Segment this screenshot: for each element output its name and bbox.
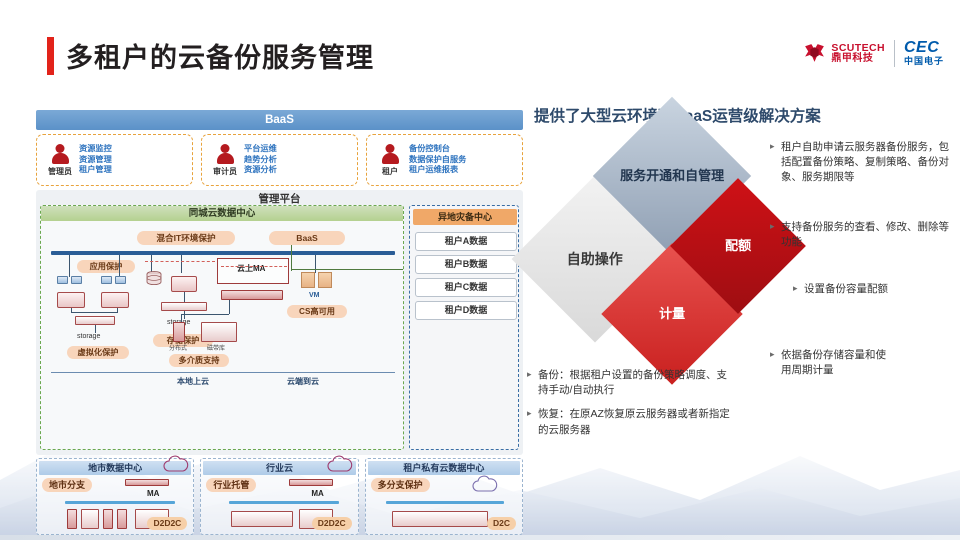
bullet-group-provisioning: 租户自助申请云服务器备份服务，包括配置备份策略、复制策略、备份对象、服务期限等	[770, 140, 958, 195]
diamond-label: 计量	[659, 306, 685, 322]
role-features-auditor: 平台运维 趋势分析 资源分析	[244, 144, 353, 176]
branch-network-bar	[386, 501, 504, 504]
branch-panels: 地市数据中心 地市分支 MA D2D2C 行业云	[36, 458, 523, 535]
role-feature: 平台运维	[244, 144, 353, 155]
cec-en-label: CEC	[904, 40, 944, 57]
branch-pill: 行业托管	[206, 478, 256, 492]
bullet-group-quota: 设置备份容量配额	[793, 282, 953, 306]
cec-logo: CEC 中国电子	[904, 40, 944, 66]
role-features-admin: 资源监控 资源管理 租户管理	[79, 144, 188, 176]
role-name-tenant: 租户	[371, 166, 409, 177]
label-cs-ha: CS高可用	[287, 305, 347, 318]
role-name-auditor: 审计员	[206, 166, 244, 177]
cloud-icon	[161, 453, 191, 475]
role-feature: 租户运维报表	[409, 165, 518, 176]
role-card-admin: 管理员 资源监控 资源管理 租户管理	[36, 134, 193, 186]
host-node	[101, 292, 129, 308]
network-backbone	[51, 251, 395, 255]
dr-item-tenant-d: 租户D数据	[415, 301, 517, 320]
role-feature: 资源管理	[79, 155, 188, 166]
server-node	[101, 276, 112, 284]
label-vm: VM	[309, 292, 320, 299]
role-feature: 租户管理	[79, 165, 188, 176]
role-cards: 管理员 资源监控 资源管理 租户管理 审计员 平台运维 趋势分析 资源分析	[36, 134, 523, 186]
pill-baas: BaaS	[269, 231, 345, 245]
label-storage-1: storage	[77, 333, 100, 340]
bullet-item: 设置备份容量配额	[793, 282, 953, 297]
host-node	[171, 276, 197, 292]
branch-pill: 地市分支	[42, 478, 92, 492]
branch-rack	[231, 511, 293, 527]
role-feature: 趋势分析	[244, 155, 353, 166]
bottom-accent-bar	[0, 535, 960, 540]
dr-item-tenant-c: 租户C数据	[415, 278, 517, 297]
branch-panel-city: 地市数据中心 地市分支 MA D2D2C	[36, 458, 194, 535]
branch-tag: D2D2C	[312, 517, 352, 530]
diamond-label: 自助操作	[567, 251, 623, 268]
bullet-group-manage: 支持备份服务的查看、修改、删除等功能	[770, 220, 958, 259]
same-city-datacenter-title: 同城云数据中心	[41, 206, 403, 221]
bullet-group-metering: 依据备份存储容量和使用周期计量	[770, 348, 890, 387]
branch-device	[81, 509, 99, 529]
server-node	[115, 276, 126, 284]
architecture-diagram: BaaS 管理员 资源监控 资源管理 租户管理 审计员	[36, 110, 523, 455]
scutech-logo: SCUTECH 鼎甲科技	[802, 41, 885, 66]
role-name-admin: 管理员	[41, 166, 79, 177]
scutech-mark-icon	[802, 41, 827, 66]
label-cloud-ma: 云上MA	[237, 263, 265, 274]
logo-divider	[894, 40, 895, 67]
branch-device	[117, 509, 127, 529]
dr-item-tenant-b: 租户B数据	[415, 255, 517, 274]
role-feature: 备份控制台	[409, 144, 518, 155]
dr-center-title: 异地灾备中心	[413, 209, 517, 225]
tape-library	[201, 322, 237, 342]
server-node	[57, 276, 68, 284]
bullet-item: 租户自助申请云服务器备份服务，包括配置备份策略、复制策略、备份对象、服务期限等	[770, 140, 958, 186]
role-feature: 资源分析	[244, 165, 353, 176]
branch-panel-private-cloud: 租户私有云数据中心 多分支保护 D2C	[365, 458, 523, 535]
label-virt-protect: 虚拟化保护	[67, 346, 129, 359]
label-local-to-cloud: 本地上云	[177, 376, 209, 387]
dr-center: 异地灾备中心 租户A数据 租户B数据 租户C数据 租户D数据	[409, 205, 519, 450]
branch-device	[103, 509, 113, 529]
slide-header: 多租户的云备份服务管理 SCUTECH 鼎甲科技 CEC 中国电子	[0, 0, 960, 96]
branch-device	[67, 509, 77, 529]
baas-header-bar: BaaS	[36, 110, 523, 130]
diamond-label: 配额	[725, 238, 751, 254]
role-card-auditor: 审计员 平台运维 趋势分析 资源分析	[201, 134, 358, 186]
vm-node	[301, 272, 315, 288]
branch-network-bar	[65, 501, 175, 504]
label-app-protect: 应用保护	[77, 260, 135, 273]
branch-ma-label: MA	[147, 489, 159, 498]
bullet-item: 依据备份存储容量和使用周期计量	[770, 348, 890, 378]
branch-network-bar	[229, 501, 339, 504]
server-node	[71, 276, 82, 284]
bullet-item: 支持备份服务的查看、修改、删除等功能	[770, 220, 958, 250]
right-panel: 提供了大型云环境下BaaS运营级解决方案 自助操作 服务开通和自管理 计量 配额…	[530, 100, 960, 460]
host-node	[57, 292, 85, 308]
branch-tag: D2C	[487, 517, 516, 530]
bullet-item: 备份：根据租户设置的备份策略调度、支持手动/自动执行	[527, 368, 737, 398]
cec-cn-label: 中国电子	[904, 57, 944, 66]
bullet-group-operations: 备份：根据租户设置的备份策略调度、支持手动/自动执行 恢复：在原AZ恢复原云服务…	[527, 368, 737, 447]
branch-ma-label: MA	[311, 489, 323, 498]
label-cloud-to-cloud: 云端到云	[287, 376, 319, 387]
scutech-cn-label: 鼎甲科技	[831, 54, 885, 64]
branch-rack	[392, 511, 488, 527]
label-multi-media: 多介质支持	[169, 354, 229, 367]
slide-root: 多租户的云备份服务管理 SCUTECH 鼎甲科技 CEC 中国电子 BaaS	[0, 0, 960, 540]
role-card-tenant: 租户 备份控制台 数据保护自服务 租户运维报表	[366, 134, 523, 186]
ma-appliance	[125, 479, 169, 486]
management-platform-title: 管理平台	[36, 191, 523, 206]
role-feature: 资源监控	[79, 144, 188, 155]
storage-array	[75, 316, 115, 325]
role-feature: 数据保护自服务	[409, 155, 518, 166]
storage-array	[161, 302, 207, 311]
scutech-text: SCUTECH 鼎甲科技	[831, 43, 885, 64]
title-accent-bar	[47, 37, 54, 75]
diamond-cluster: 自助操作 服务开通和自管理 计量 配额	[530, 136, 790, 386]
cloud-icon	[470, 473, 502, 495]
bullet-item: 恢复：在原AZ恢复原云服务器或者新指定的云服务器	[527, 407, 737, 437]
logo-group: SCUTECH 鼎甲科技 CEC 中国电子	[802, 40, 944, 67]
dr-item-tenant-a: 租户A数据	[415, 232, 517, 251]
cloud-icon	[325, 453, 355, 475]
label-tape: 磁带库	[207, 343, 225, 352]
branch-panel-industry: 行业云 行业托管 MA D2D2C	[200, 458, 358, 535]
admin-avatar: 管理员	[41, 144, 79, 177]
distributed-node	[173, 322, 185, 342]
ma-appliance	[289, 479, 333, 486]
management-platform: 管理平台 同城云数据中心 混合IT环境保护 BaaS 应用保护	[36, 190, 523, 455]
label-distributed: 分布式	[169, 343, 187, 352]
role-features-tenant: 备份控制台 数据保护自服务 租户运维报表	[409, 144, 518, 176]
ma-appliance	[221, 290, 283, 300]
page-title: 多租户的云备份服务管理	[66, 36, 374, 75]
database-icon	[145, 270, 163, 288]
diamond-label: 服务开通和自管理	[620, 168, 724, 184]
branch-tag: D2D2C	[147, 517, 187, 530]
vm-node	[318, 272, 332, 288]
auditor-avatar: 审计员	[206, 144, 244, 177]
same-city-datacenter: 同城云数据中心 混合IT环境保护 BaaS 应用保护 sto	[40, 205, 404, 450]
pill-hybrid-it: 混合IT环境保护	[137, 231, 235, 245]
tenant-avatar: 租户	[371, 144, 409, 177]
branch-pill: 多分支保护	[371, 478, 430, 492]
